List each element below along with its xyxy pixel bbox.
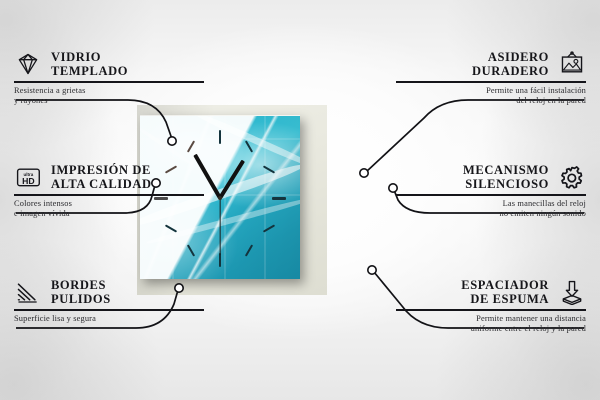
feature-rule [14, 309, 204, 311]
feature-rule [396, 81, 586, 83]
feature-title: ESPACIADOR DE ESPUMA [461, 278, 549, 306]
feature-header: VIDRIO TEMPLADO [14, 50, 204, 78]
feature-bordes-pulidos: BORDES PULIDOS Superficie lisa y segura [14, 278, 204, 324]
connector-line-4 [366, 100, 584, 172]
feature-header: ASIDERO DURADERO [396, 50, 586, 78]
infographic-canvas: VIDRIO TEMPLADO Resistencia a grietas y … [0, 0, 600, 400]
feature-title: ASIDERO DURADERO [472, 50, 549, 78]
feature-asidero-duradero: ASIDERO DURADERO Permite una fácil insta… [396, 50, 586, 107]
feature-description: Permite mantener una distancia uniforme … [396, 314, 586, 335]
diamond-icon [14, 51, 42, 77]
polished-edges-icon [14, 279, 42, 305]
feature-impresion-alta-calidad: ultra HD IMPRESIÓN DE ALTA CALIDAD Color… [14, 163, 204, 220]
feature-header: BORDES PULIDOS [14, 278, 204, 306]
feature-description: Resistencia a grietas y rayones [14, 86, 204, 107]
feature-espaciador-de-espuma: ESPACIADOR DE ESPUMA Permite mantener un… [396, 278, 586, 335]
feature-header: MECANISMO SILENCIOSO [396, 163, 586, 191]
feature-rule [396, 194, 586, 196]
gear-icon [558, 164, 586, 190]
clock-hand-hub [218, 196, 222, 200]
feature-rule [396, 309, 586, 311]
feature-title: BORDES PULIDOS [51, 278, 111, 306]
feature-title: VIDRIO TEMPLADO [51, 50, 128, 78]
clock-tick-12 [219, 130, 221, 144]
connector-endpoint-6 [368, 266, 376, 274]
feature-title: IMPRESIÓN DE ALTA CALIDAD [51, 163, 152, 191]
feature-rule [14, 81, 204, 83]
feature-description: Superficie lisa y segura [14, 314, 204, 325]
clock-tick-6 [219, 253, 221, 267]
feature-header: ultra HD IMPRESIÓN DE ALTA CALIDAD [14, 163, 204, 191]
foam-spacer-arrow-icon [558, 279, 586, 305]
clock-tick-3 [272, 197, 286, 200]
feature-description: Colores intensos e imagen vívida [14, 199, 204, 220]
ultra-hd-icon: ultra HD [14, 164, 42, 190]
hanging-frame-icon [558, 51, 586, 77]
connector-endpoint-4 [360, 169, 368, 177]
feature-vidrio-templado: VIDRIO TEMPLADO Resistencia a grietas y … [14, 50, 204, 107]
feature-header: ESPACIADOR DE ESPUMA [396, 278, 586, 306]
feature-description: Permite una fácil instalación del reloj … [396, 86, 586, 107]
feature-mecanismo-silencioso: MECANISMO SILENCIOSO Las manecillas del … [396, 163, 586, 220]
feature-rule [14, 194, 204, 196]
feature-title: MECANISMO SILENCIOSO [463, 163, 549, 191]
svg-text:HD: HD [22, 176, 35, 186]
clock-second-hand [219, 198, 220, 254]
feature-description: Las manecillas del reloj no emiten ningú… [396, 199, 586, 220]
